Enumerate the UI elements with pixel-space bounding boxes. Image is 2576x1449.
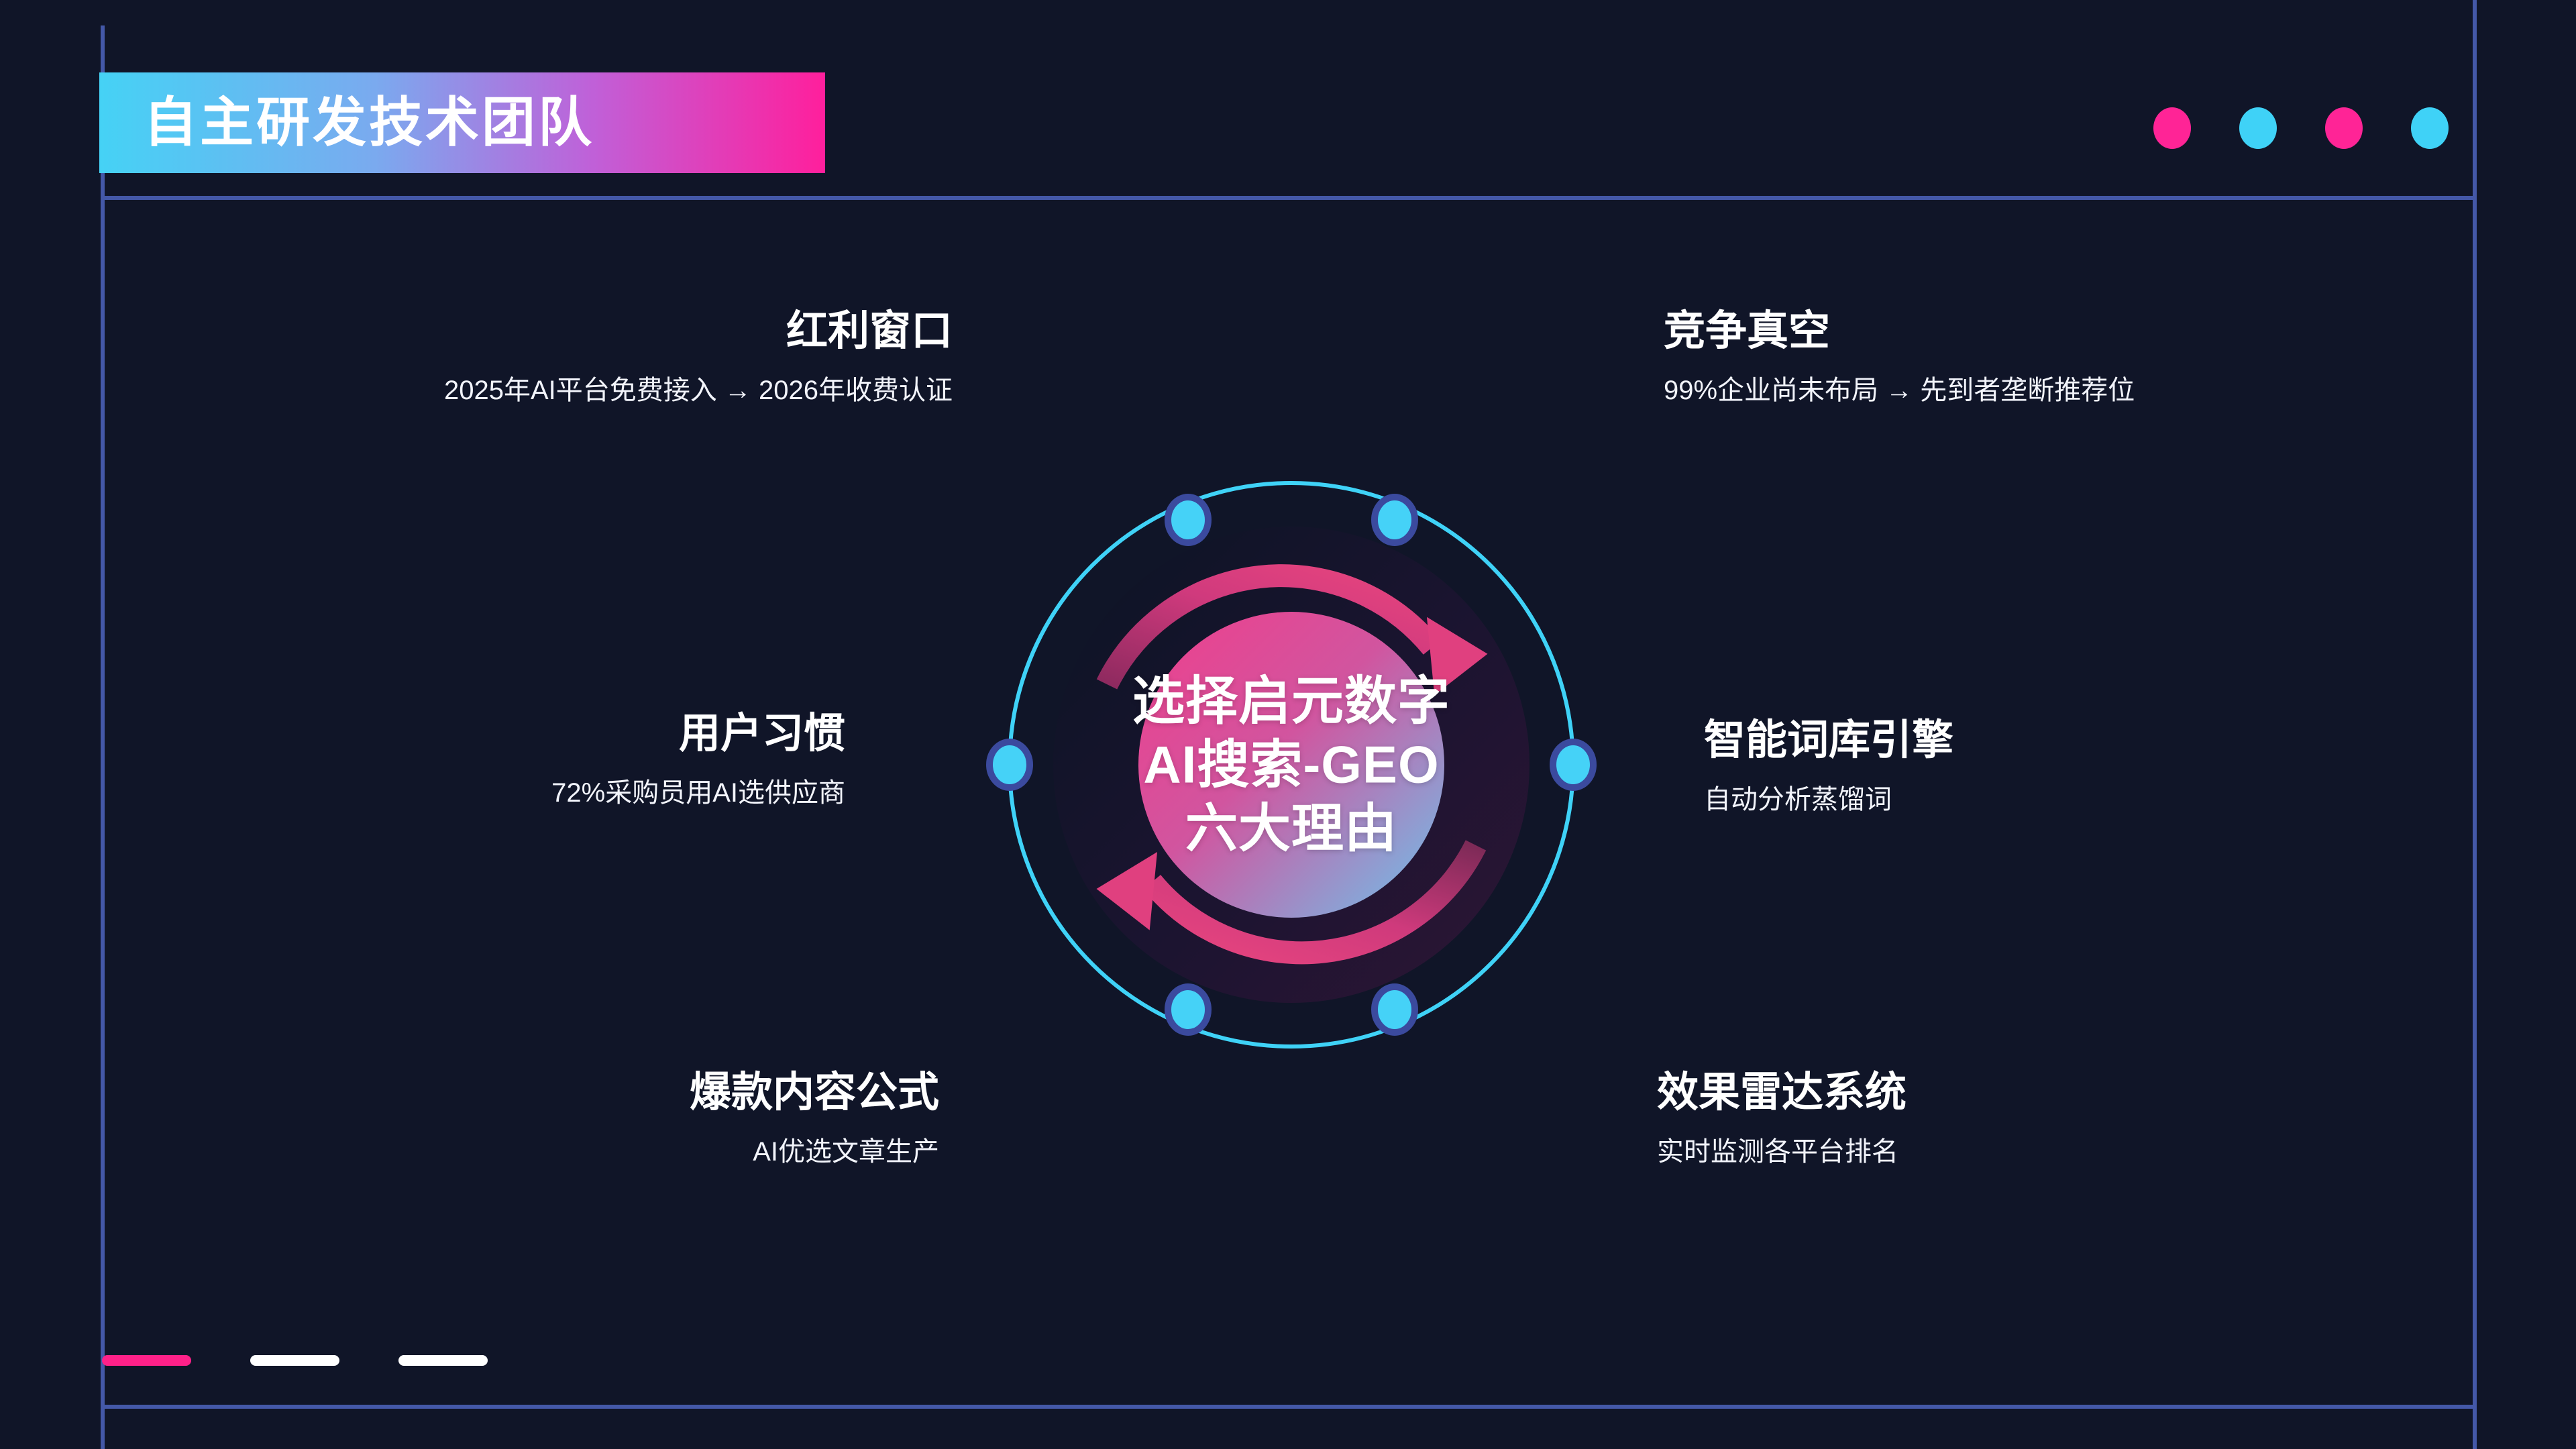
feature-xiaoguo-leida-xitong[interactable]: 效果雷达系统 实时监测各平台排名 [1657, 1070, 2462, 1168]
feature-desc: 2025年AI平台免费接入 → 2026年收费认证 [0, 374, 953, 407]
feature-title: 用户习惯 [134, 711, 845, 757]
frame-border-bottom [101, 1405, 2475, 1409]
page-title: 自主研发技术团队 [144, 96, 594, 150]
core-circle [1138, 612, 1444, 918]
feature-desc: AI优选文章生产 [201, 1136, 939, 1168]
header-dot-group [2153, 107, 2449, 149]
page-indicator-2[interactable] [250, 1355, 339, 1366]
ring-node-3[interactable] [989, 742, 1030, 788]
header-dot-3-icon [2325, 107, 2363, 149]
page-indicator-group [102, 1355, 488, 1366]
frame-border-top [101, 196, 2475, 200]
feature-desc: 72%采购员用AI选供应商 [134, 777, 845, 809]
header-dot-2-icon [2239, 107, 2277, 149]
feature-title: 红利窗口 [0, 309, 953, 354]
feature-title: 竞争真空 [1664, 309, 2469, 354]
feature-baokuan-neirong-gongshi[interactable]: 爆款内容公式 AI优选文章生产 [201, 1070, 939, 1168]
frame-border-left [101, 25, 105, 1449]
ring-node-2[interactable] [1375, 497, 1415, 543]
feature-jingzheng-zhenkong[interactable]: 竞争真空 99%企业尚未布局 → 先到者垄断推荐位 [1664, 309, 2469, 407]
header-dot-4-icon [2411, 107, 2449, 149]
page-indicator-3[interactable] [398, 1355, 488, 1366]
feature-title: 智能词库引擎 [1704, 718, 2509, 763]
ring-node-5[interactable] [1168, 987, 1208, 1032]
feature-desc: 自动分析蒸馏词 [1704, 784, 2509, 816]
feature-desc: 实时监测各平台排名 [1657, 1136, 2462, 1168]
header-dot-1-icon [2153, 107, 2191, 149]
ring-node-4[interactable] [1553, 742, 1593, 788]
ring-node-1[interactable] [1168, 497, 1208, 543]
feature-hongli-chuangkou[interactable]: 红利窗口 2025年AI平台免费接入 → 2026年收费认证 [0, 309, 953, 407]
ring-node-6[interactable] [1375, 987, 1415, 1032]
feature-title: 爆款内容公式 [201, 1070, 939, 1116]
feature-zhineng-ciku-yinqing[interactable]: 智能词库引擎 自动分析蒸馏词 [1704, 718, 2509, 816]
page-title-badge: 自主研发技术团队 [99, 72, 825, 173]
cycle-diagram: 选择启元数字 AI搜索-GEO 六大理由 [808, 282, 1774, 1248]
feature-yonghu-xiguan[interactable]: 用户习惯 72%采购员用AI选供应商 [134, 711, 845, 809]
feature-desc: 99%企业尚未布局 → 先到者垄断推荐位 [1664, 374, 2469, 407]
page-indicator-1[interactable] [102, 1355, 191, 1366]
feature-title: 效果雷达系统 [1657, 1070, 2462, 1116]
